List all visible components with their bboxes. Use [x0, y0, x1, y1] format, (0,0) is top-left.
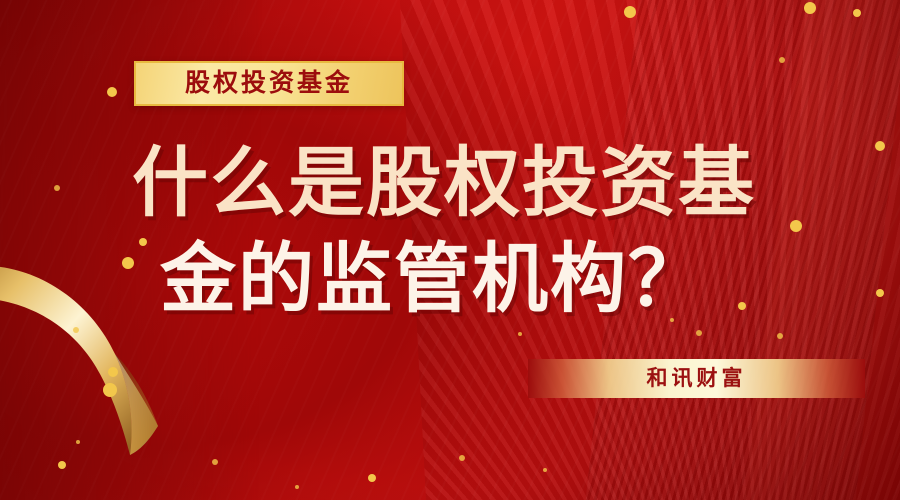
page-title-line-1: 什么是股权投资基	[0, 136, 900, 232]
gold-dot-icon	[108, 367, 118, 377]
gold-dot-icon	[853, 9, 861, 17]
gold-dot-icon	[624, 6, 636, 18]
brand-band: 和讯财富	[528, 359, 865, 398]
category-badge: 股权投资基金	[134, 61, 404, 106]
gold-dot-icon	[459, 455, 465, 461]
brand-label: 和讯财富	[647, 368, 747, 389]
gold-dot-icon	[368, 474, 376, 482]
category-badge-label: 股权投资基金	[185, 71, 353, 96]
gold-dot-icon	[76, 440, 80, 444]
poster-banner: 股权投资基金 什么是股权投资基 金的监管机构？ 和讯财富	[0, 0, 900, 500]
gold-dot-icon	[804, 2, 816, 14]
gold-dot-icon	[543, 468, 547, 472]
page-title: 什么是股权投资基 金的监管机构？	[0, 136, 900, 328]
gold-dot-icon	[518, 332, 522, 336]
gold-dot-icon	[777, 333, 783, 339]
gold-dot-icon	[696, 330, 702, 336]
gold-dot-icon	[779, 57, 785, 63]
gold-dot-icon	[103, 383, 117, 397]
gold-dot-icon	[107, 87, 117, 97]
page-title-line-2: 金的监管机构？	[0, 232, 900, 328]
gold-dot-icon	[58, 461, 66, 469]
gold-dot-icon	[295, 485, 299, 489]
gold-dot-icon	[212, 459, 218, 465]
